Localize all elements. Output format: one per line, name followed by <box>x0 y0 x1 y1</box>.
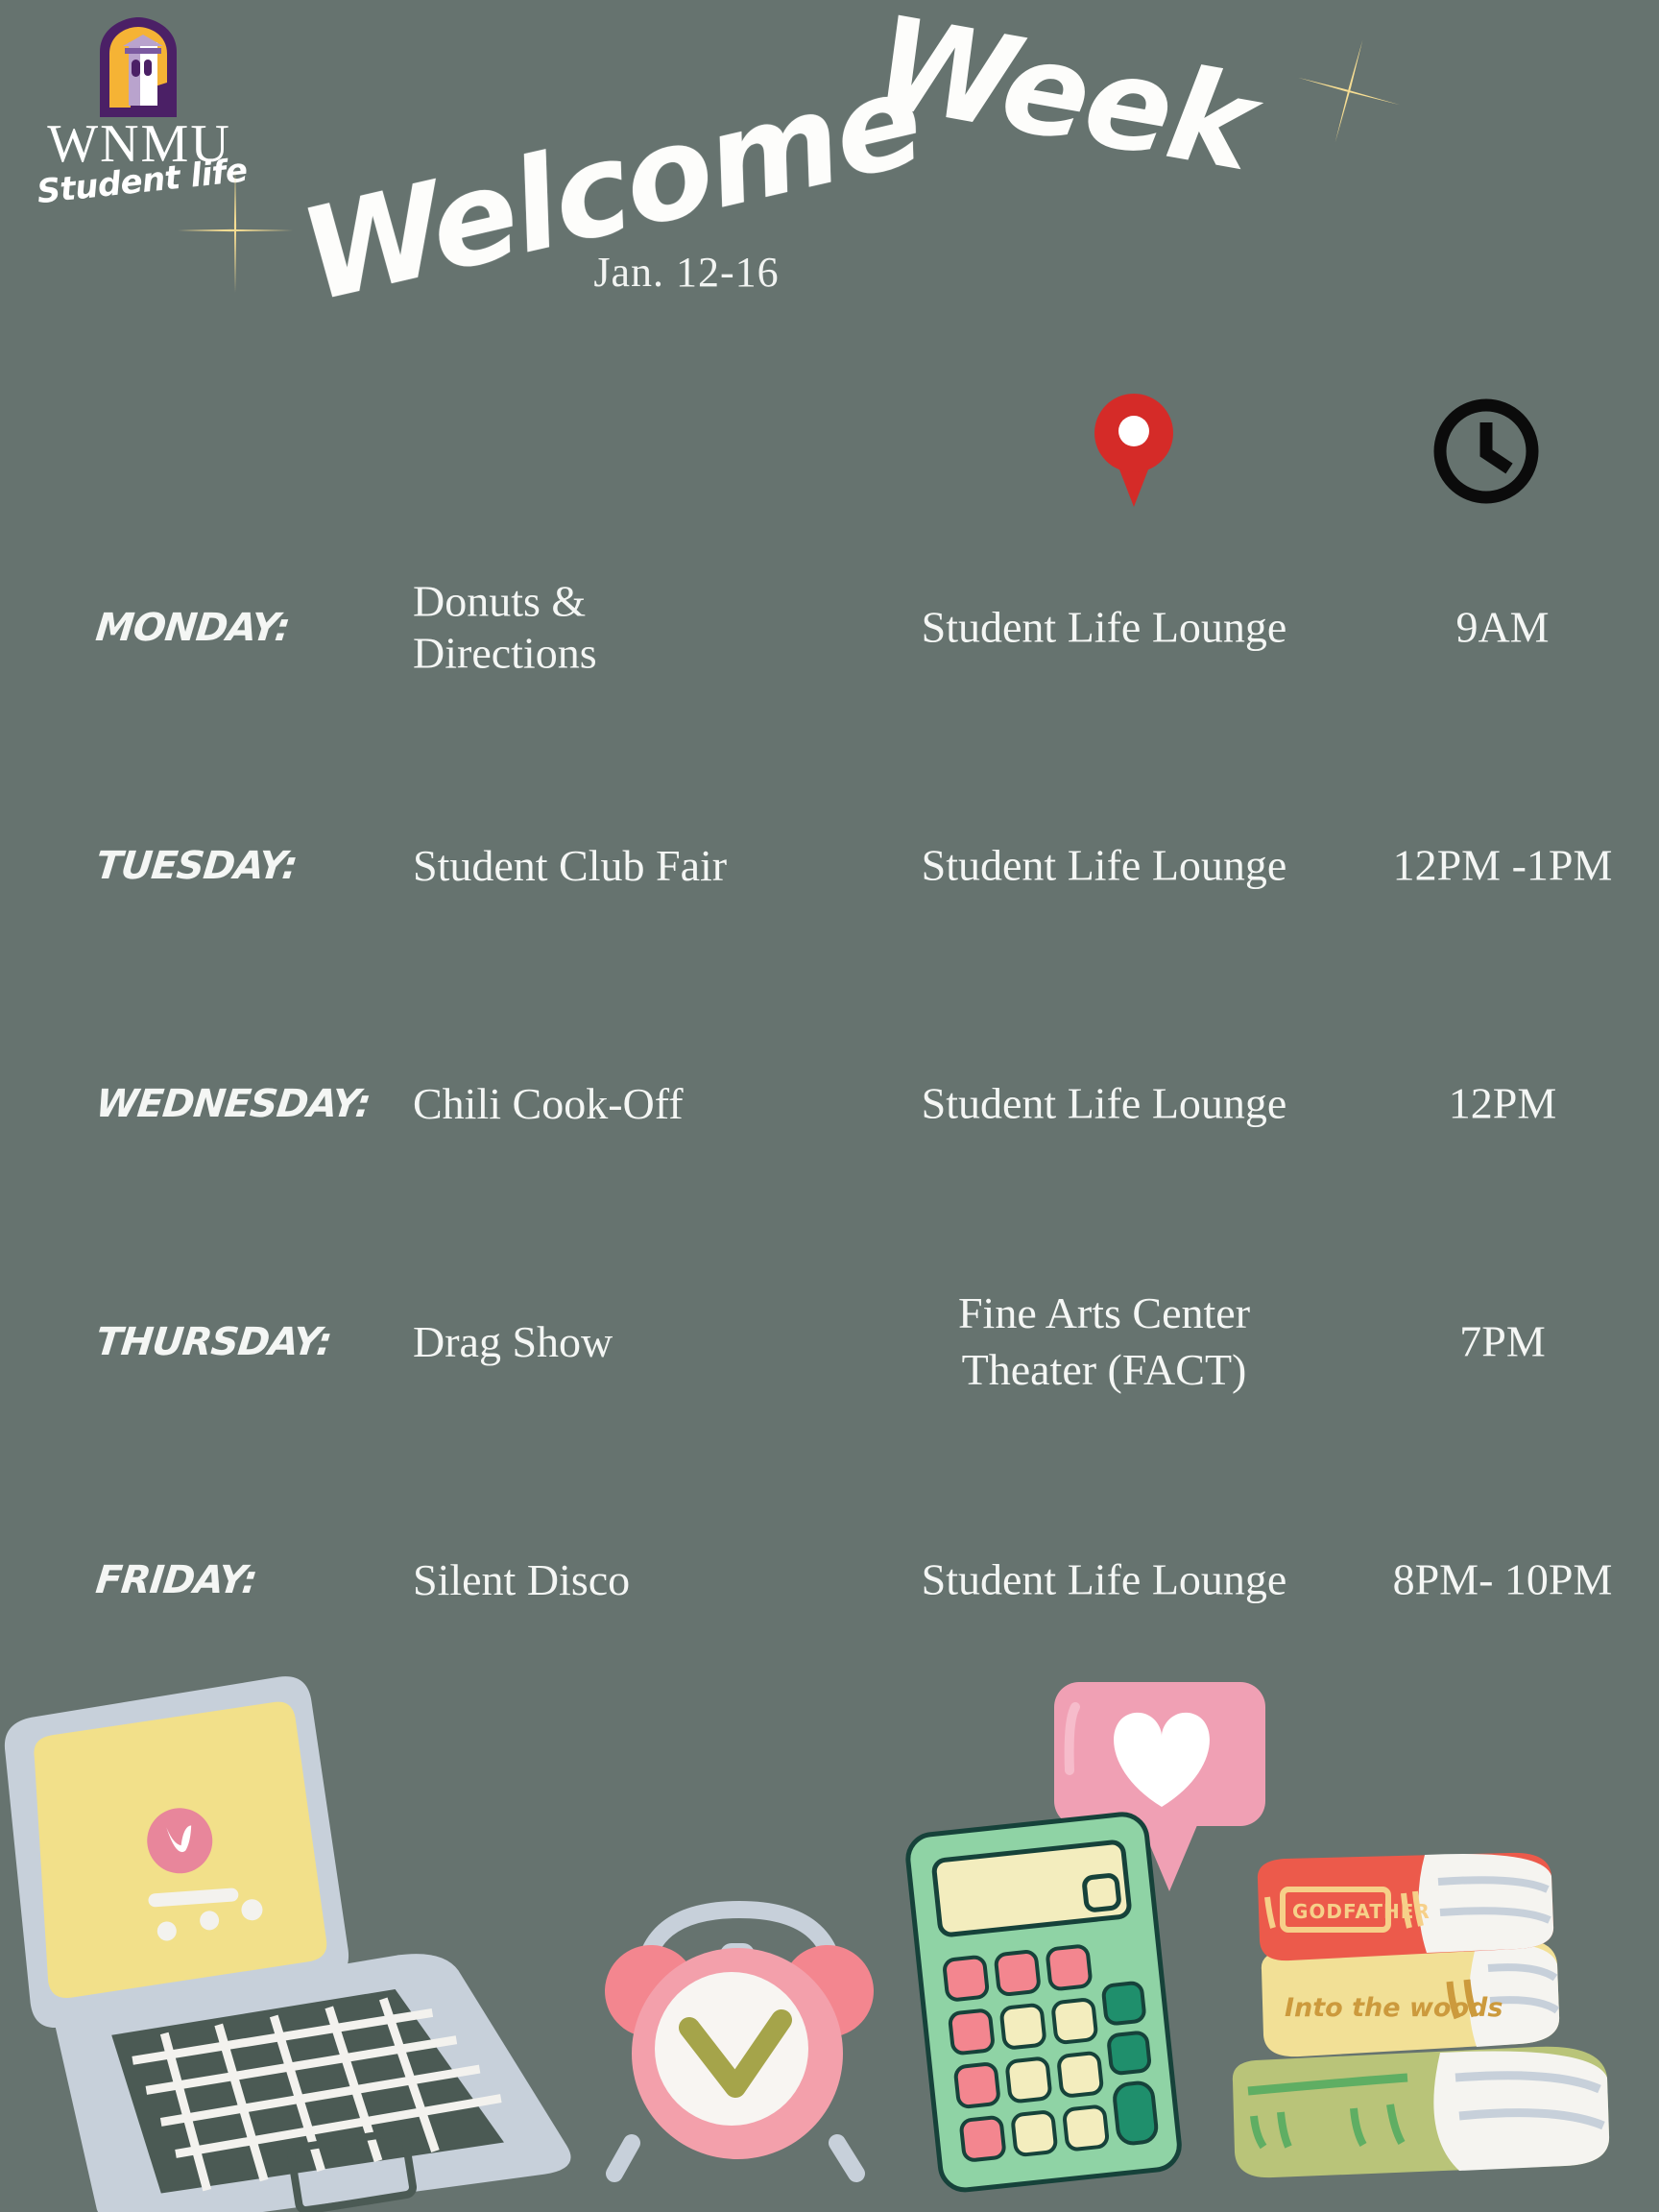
table-row: THURSDAY: Drag Show Fine Arts Center The… <box>0 1223 1659 1461</box>
schedule-event: Student Club Fair <box>413 840 778 892</box>
schedule-day: THURSDAY: <box>94 1320 387 1364</box>
wnmu-arch-emblem-icon <box>86 13 190 127</box>
schedule-time: 7PM <box>1392 1314 1613 1371</box>
illustration-band: Into the woods GODFATHER <box>0 1617 1659 2212</box>
schedule-event: Silent Disco <box>413 1554 778 1606</box>
schedule-day: MONDAY: <box>94 606 387 650</box>
schedule-time: 12PM <box>1392 1076 1613 1133</box>
table-row: TUESDAY: Student Club Fair Student Life … <box>0 747 1659 985</box>
calculator-illustration <box>893 1799 1219 2202</box>
schedule-location: Student Life Lounge <box>902 600 1306 657</box>
schedule-event: Donuts & Directions <box>413 576 778 681</box>
schedule-day: FRIDAY: <box>94 1558 387 1602</box>
schedule-location: Student Life Lounge <box>902 838 1306 895</box>
schedule-time: 8PM- 10PM <box>1392 1552 1613 1609</box>
poster-dates: Jan. 12-16 <box>485 248 888 297</box>
schedule-day: WEDNESDAY: <box>94 1082 387 1126</box>
schedule-location: Student Life Lounge <box>902 1076 1306 1133</box>
schedule-day: TUESDAY: <box>94 844 387 888</box>
welcome-week-poster: WNMU Student life Welcome Week Jan. 12-1… <box>0 0 1659 2212</box>
schedule-event: Chili Cook-Off <box>413 1078 778 1130</box>
schedule-table: MONDAY: Donuts & Directions Student Life… <box>0 509 1659 1699</box>
schedule-location: Student Life Lounge <box>902 1552 1306 1609</box>
schedule-time: 12PM -1PM <box>1392 838 1613 895</box>
laptop-illustration <box>0 1665 605 2212</box>
schedule-event: Drag Show <box>413 1316 778 1368</box>
book-stack-illustration: Into the woods GODFATHER <box>1219 1847 1623 2193</box>
clock-icon <box>1431 396 1542 507</box>
table-row: WEDNESDAY: Chili Cook-Off Student Life L… <box>0 985 1659 1223</box>
poster-title: Welcome Week <box>259 10 1392 259</box>
location-pin-icon <box>1094 394 1173 507</box>
schedule-location: Fine Arts Center Theater (FACT) <box>902 1286 1306 1399</box>
schedule-time: 9AM <box>1392 600 1613 657</box>
alarm-clock-illustration <box>576 1886 902 2193</box>
table-row: MONDAY: Donuts & Directions Student Life… <box>0 509 1659 747</box>
